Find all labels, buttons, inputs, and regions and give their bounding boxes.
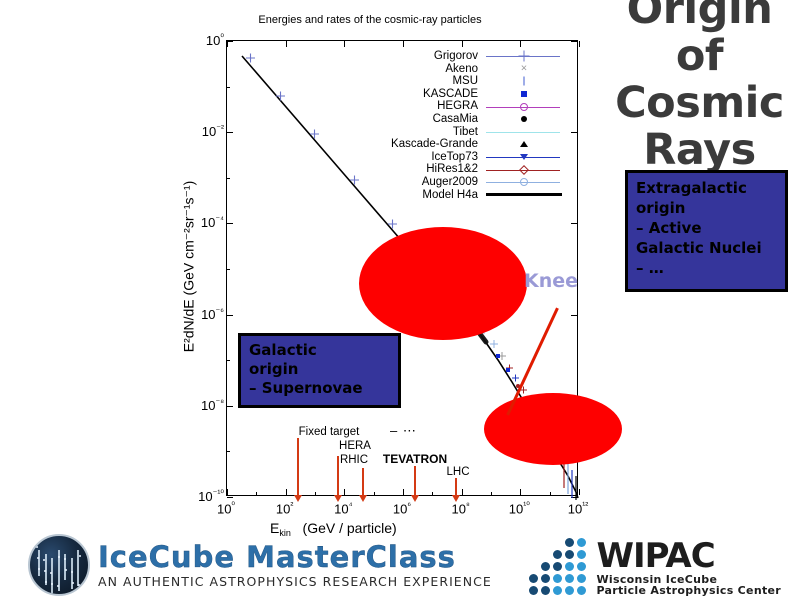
x-tick-label: 10¹² <box>568 500 588 516</box>
legend-item: MSU <box>328 75 576 88</box>
acc-label-hera: HERA <box>339 440 371 452</box>
callout-extragalactic-origin: Extragalactic origin – Active Galactic N… <box>625 170 788 292</box>
acc-arrow-rhic <box>362 468 364 496</box>
slide-canvas: Origin of Cosmic Rays Energies and rates… <box>0 0 799 600</box>
legend-line <box>486 132 560 133</box>
y-tick-minor <box>227 451 230 452</box>
wipac-dot <box>529 574 538 583</box>
legend-item: Model H4a <box>328 189 576 202</box>
wipac-name: WIPAC <box>596 539 781 573</box>
acc-label-lhc: LHC <box>446 466 469 478</box>
legend-marker <box>484 126 568 138</box>
wipac-dot <box>565 574 574 583</box>
legend-glyph-plus-icon <box>519 51 530 62</box>
acc-label-fixed-target: Fixed target <box>299 426 360 438</box>
y-tick-major <box>571 223 577 224</box>
x-tick-minor <box>432 492 433 495</box>
legend-marker <box>484 101 568 113</box>
icecube-masterclass-title: IceCube MasterClass <box>98 542 492 572</box>
detector-string <box>51 558 53 594</box>
footer-banner: IceCube MasterClass AN AUTHENTIC ASTROPH… <box>0 528 799 600</box>
wipac-dot <box>565 538 574 547</box>
y-tick-minor <box>227 269 230 270</box>
y-tick-minor <box>227 87 230 88</box>
legend-marker <box>484 189 568 201</box>
detector-dom-dot <box>38 568 40 570</box>
legend-glyph-ocircle-icon <box>520 178 528 186</box>
detector-dom-dot <box>45 581 47 583</box>
x-tick-major <box>520 489 521 495</box>
y-tick-major <box>571 497 577 498</box>
detector-dom-dot <box>65 569 67 571</box>
wipac-dot <box>529 562 538 571</box>
wipac-subtitle-2: Particle Astrophysics Center <box>596 585 781 596</box>
y-tick-minor <box>227 178 230 179</box>
x-tick-major <box>344 41 345 47</box>
legend-item: Auger2009 <box>328 176 576 189</box>
legend-marker <box>484 138 568 150</box>
legend-label: Model H4a <box>328 189 484 202</box>
legend-item: KASCADE <box>328 88 576 101</box>
dash-dots-marker: – ⋯ <box>390 423 417 439</box>
ankle-highlight-blob <box>484 393 622 465</box>
legend-marker <box>484 164 568 176</box>
y-tick-major <box>227 223 233 224</box>
y-tick-major <box>571 41 577 42</box>
callout-extragalactic-line-5: – … <box>636 258 777 278</box>
x-tick-major <box>227 489 228 495</box>
legend-label: HiRes1&2 <box>328 163 484 176</box>
callout-galactic-line-1: Galactic <box>249 341 390 360</box>
detector-dom-dot <box>51 583 53 585</box>
x-tick-minor <box>315 492 316 495</box>
y-tick-major <box>227 41 233 42</box>
wipac-dot <box>577 586 586 595</box>
legend-label: MSU <box>328 75 484 88</box>
detector-dom-dot <box>43 559 45 561</box>
y-tick-major <box>227 406 233 407</box>
y-tick-minor <box>227 360 230 361</box>
x-tick-label: 10⁴ <box>334 500 352 516</box>
wipac-dot <box>553 538 562 547</box>
wipac-dot <box>565 562 574 571</box>
legend-label: KASCADE <box>328 88 484 101</box>
callout-galactic-line-2: origin <box>249 360 390 379</box>
legend-glyph-triangle-down-icon <box>520 154 528 160</box>
knee-label: Knee <box>524 270 578 292</box>
wipac-dot <box>553 574 562 583</box>
acc-arrow-fixed-target <box>297 438 299 496</box>
legend-glyph-diamond-icon <box>519 165 529 175</box>
legend-item: Kascade-Grande <box>328 138 576 151</box>
y-tick-major <box>227 497 233 498</box>
wipac-dot <box>541 550 550 559</box>
legend-glyph-square-icon <box>521 91 527 97</box>
legend-glyph-x-icon: × <box>521 63 527 74</box>
wipac-dot <box>553 562 562 571</box>
wipac-dot-grid-icon <box>529 538 588 597</box>
callout-galactic-origin: Galactic origin – Supernovae <box>238 333 401 408</box>
wipac-dot <box>553 550 562 559</box>
x-tick-minor <box>256 492 257 495</box>
wipac-dot <box>553 586 562 595</box>
x-tick-minor <box>374 492 375 495</box>
y-axis-title: E²dN/dE (GeV cm⁻²sr⁻¹s⁻¹) <box>181 102 198 432</box>
x-tick-label: 10⁸ <box>452 500 470 516</box>
legend-marker <box>484 151 568 163</box>
wipac-dot <box>577 574 586 583</box>
legend-marker <box>484 176 568 188</box>
wipac-dot <box>541 538 550 547</box>
y-tick-major <box>227 132 233 133</box>
x-tick-major <box>403 41 404 47</box>
callout-extragalactic-line-3: – Active <box>636 218 777 238</box>
legend: GrigorovAkeno×MSUKASCADEHEGRACasaMiaTibe… <box>328 50 576 201</box>
detector-dom-dot <box>79 555 81 557</box>
wipac-dot <box>529 538 538 547</box>
detector-dom-dot <box>57 585 59 587</box>
legend-label: Kascade-Grande <box>328 138 484 151</box>
x-tick-major <box>462 489 463 495</box>
y-tick-major <box>227 315 233 316</box>
detector-dom-dot <box>58 556 60 558</box>
legend-label: CasaMia <box>328 113 484 126</box>
legend-label: Auger2009 <box>328 176 484 189</box>
wipac-dot <box>541 562 550 571</box>
legend-label: Akeno <box>328 63 484 76</box>
wipac-dot <box>529 586 538 595</box>
legend-item: HiRes1&2 <box>328 163 576 176</box>
x-tick-label: 10² <box>276 500 293 516</box>
acc-label-tevatron: TEVATRON <box>383 452 447 466</box>
callout-galactic-line-3: – Supernovae <box>249 379 390 398</box>
x-tick-major <box>579 489 580 495</box>
legend-glyph-thickline-icon <box>486 193 562 196</box>
x-tick-minor <box>491 492 492 495</box>
x-tick-minor <box>550 492 551 495</box>
title-line-2: of <box>600 33 799 80</box>
detector-string <box>71 558 73 589</box>
acc-arrow-hera <box>337 456 339 496</box>
wipac-dot <box>577 562 586 571</box>
legend-marker <box>484 88 568 100</box>
detector-dom-dot <box>72 582 74 584</box>
callout-extragalactic-line-2: origin <box>636 198 777 218</box>
x-tick-major <box>344 489 345 495</box>
detector-dom-dot <box>78 584 80 586</box>
wipac-dot <box>541 574 550 583</box>
legend-label: Tibet <box>328 126 484 139</box>
icecube-detector-icon <box>28 534 90 596</box>
legend-marker: × <box>484 63 568 75</box>
acc-arrow-tevatron <box>414 466 416 496</box>
detector-string <box>38 550 40 576</box>
knee-highlight-blob <box>359 227 527 340</box>
wipac-dot <box>565 550 574 559</box>
x-tick-major <box>462 41 463 47</box>
title-line-3: Cosmic <box>600 80 799 127</box>
wipac-dot <box>529 550 538 559</box>
legend-glyph-triangle-icon <box>520 141 528 147</box>
x-tick-major <box>579 41 580 47</box>
legend-item: CasaMia <box>328 113 576 126</box>
detector-dom-dot <box>36 546 38 548</box>
wipac-dot <box>577 550 586 559</box>
wipac-logo: WIPAC Wisconsin IceCube Particle Astroph… <box>529 538 781 597</box>
x-tick-major <box>403 489 404 495</box>
title-line-4: Rays <box>600 127 799 174</box>
acc-arrow-lhc <box>455 478 457 496</box>
x-tick-major <box>286 41 287 47</box>
x-tick-major <box>286 489 287 495</box>
wipac-dot <box>577 538 586 547</box>
y-tick-major <box>571 315 577 316</box>
legend-marker <box>484 113 568 125</box>
acc-label-rhic: RHIC <box>340 454 368 466</box>
wipac-dot <box>541 586 550 595</box>
legend-glyph-dot-icon <box>521 116 527 122</box>
wipac-dot <box>565 586 574 595</box>
icecube-masterclass-logo: IceCube MasterClass AN AUTHENTIC ASTROPH… <box>28 534 492 596</box>
legend-item: Akeno× <box>328 63 576 76</box>
figure-title: Energies and rates of the cosmic-ray par… <box>150 14 590 26</box>
legend-item: HEGRA <box>328 100 576 113</box>
x-tick-label: 10¹⁰ <box>509 500 530 516</box>
legend-glyph-vbar-icon <box>524 77 525 86</box>
legend-glyph-ocircle-icon <box>520 103 528 111</box>
legend-marker <box>484 75 568 87</box>
icecube-masterclass-subtitle: AN AUTHENTIC ASTROPHYSICS RESEARCH EXPER… <box>98 574 492 589</box>
page-title: Origin of Cosmic Rays <box>600 0 799 174</box>
legend-item: Tibet <box>328 126 576 139</box>
legend-label: IceTop73 <box>328 151 484 164</box>
y-tick-label: 10⁻¹⁰ <box>184 488 224 504</box>
detector-dom-dot <box>44 570 46 572</box>
y-tick-label: 10⁰ <box>184 32 224 48</box>
detector-dom-dot <box>37 557 39 559</box>
callout-extragalactic-line-1: Extragalactic <box>636 178 777 198</box>
detector-dom-dot <box>50 572 52 574</box>
callout-extragalactic-line-4: Galactic Nuclei <box>636 238 777 258</box>
legend-label: Grigorov <box>328 50 484 63</box>
legend-label: HEGRA <box>328 100 484 113</box>
legend-item: Grigorov <box>328 50 576 63</box>
legend-item: IceTop73 <box>328 151 576 164</box>
detector-dom-dot <box>71 571 73 573</box>
legend-marker <box>484 50 568 62</box>
title-line-1: Origin <box>600 0 799 33</box>
detector-dom-dot <box>64 558 66 560</box>
x-tick-label: 10⁶ <box>393 500 411 516</box>
x-tick-major <box>520 41 521 47</box>
